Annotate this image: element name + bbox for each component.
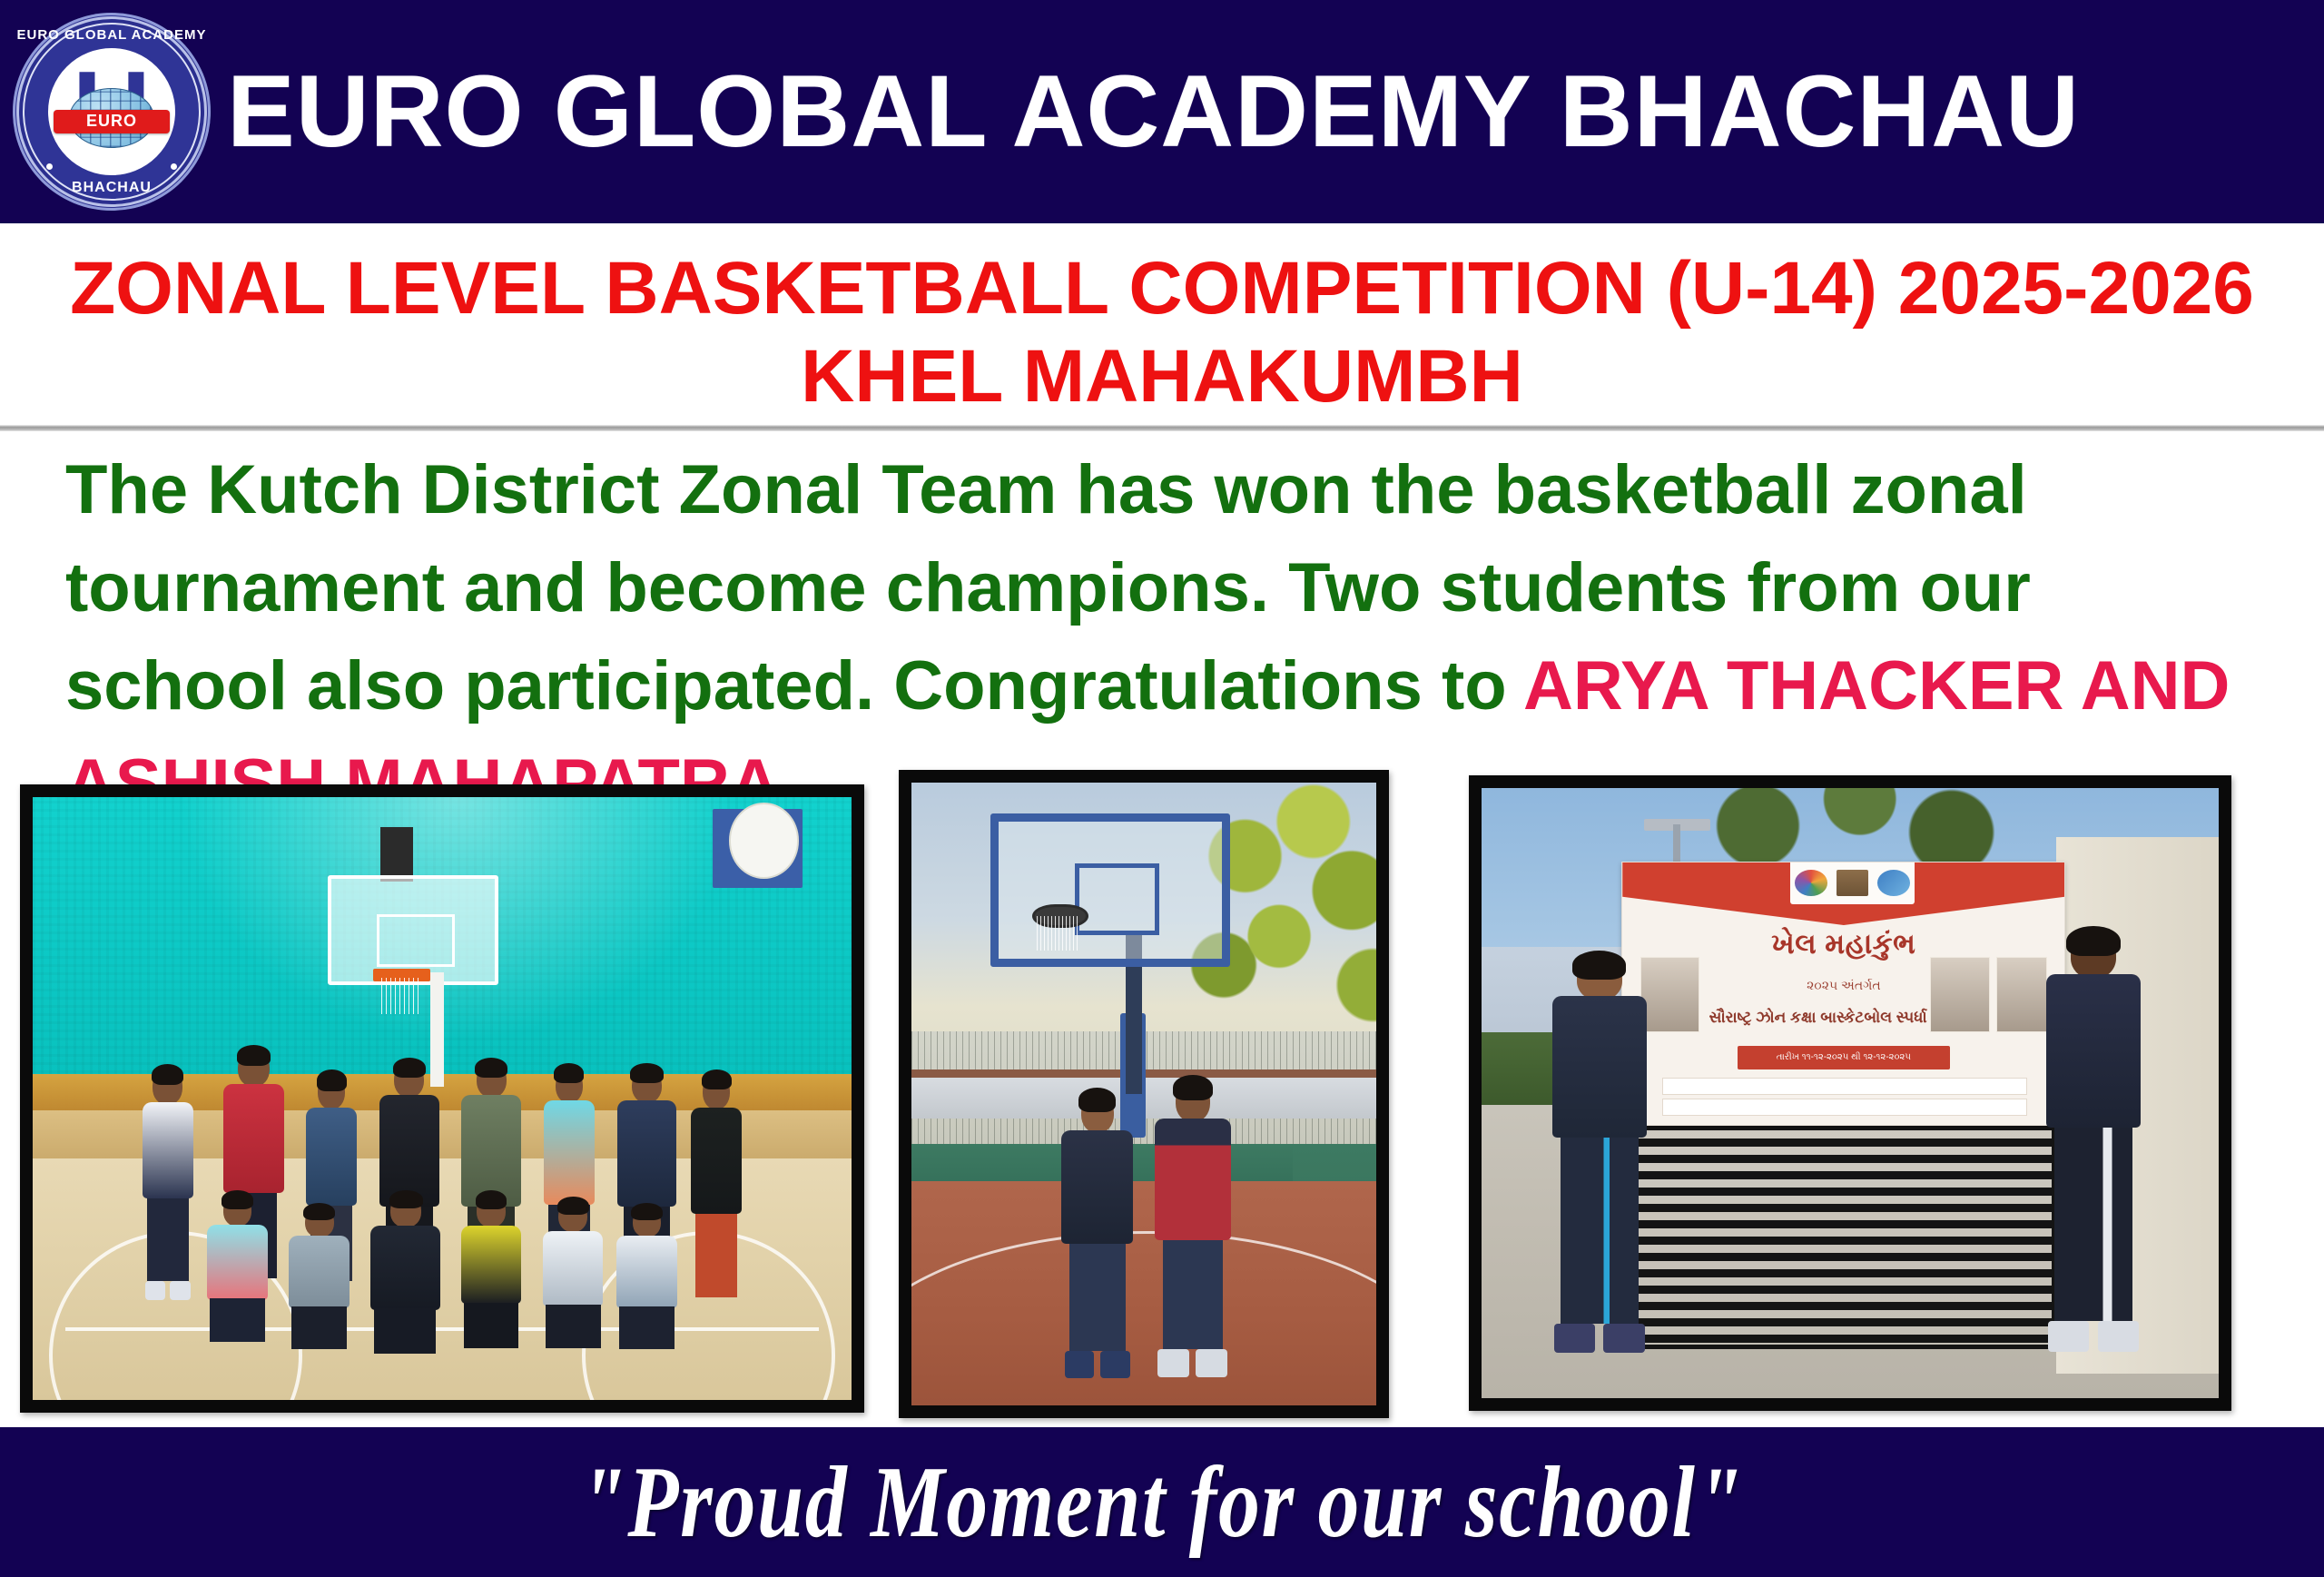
photo-indoor-gym-team	[20, 784, 864, 1413]
competition-title-block: ZONAL LEVEL BASKETBALL COMPETITION (U-14…	[0, 223, 2324, 425]
photo-gallery: ખેલ મહાકુંભ ૨૦૨૫ અંતર્ગત સૌરાષ્ટ્ર ઝોન ક…	[0, 763, 2324, 1425]
competition-title-line1: ZONAL LEVEL BASKETBALL COMPETITION (U-14…	[0, 249, 2324, 330]
person-figure	[688, 1074, 745, 1327]
sports-logo-icon	[1877, 870, 1909, 896]
person-figure	[614, 1207, 679, 1358]
school-logo: EURO GLOBAL ACADEMY BHACHAU U EURO	[13, 13, 211, 211]
school-name-title: EURO GLOBAL ACADEMY BHACHAU	[227, 61, 2324, 163]
gym-wall-banner-icon	[713, 809, 803, 887]
event-banner: ખેલ મહાકુંભ ૨૦૨૫ અંતર્ગત સૌરાષ્ટ્ર ઝોન ક…	[1621, 862, 2065, 1126]
photo-1-image	[33, 797, 852, 1400]
person-figure	[287, 1207, 352, 1358]
portrait-photo	[1930, 957, 1989, 1032]
competition-title-line2: KHEL MAHAKUMBH	[0, 337, 2324, 418]
logo-dot-right-icon	[171, 163, 177, 170]
photo-3-image: ખેલ મહાકુંભ ૨૦૨૫ અંતર્ગત સૌરાષ્ટ્ર ઝોન ક…	[1482, 788, 2219, 1398]
person-figure	[458, 1195, 524, 1357]
announcement-block: The Kutch District Zonal Team has won th…	[0, 441, 2324, 750]
person-figure	[1153, 1081, 1232, 1393]
header-banner: EURO GLOBAL ACADEMY BHACHAU U EURO EURO …	[0, 0, 2324, 223]
metal-stand	[1629, 1118, 2056, 1349]
banner-field	[1662, 1078, 2026, 1095]
banner-date-strip: તારીખ ૧૧-૧૨-૨૦૨૫ થી ૧૨-૧૨-૨૦૨૫	[1738, 1046, 1950, 1069]
emblem-icon	[1837, 870, 1868, 896]
logo-arc-top-text: EURO GLOBAL ACADEMY	[13, 27, 211, 43]
logo-arc-bottom-text: BHACHAU	[13, 180, 211, 196]
person-figure	[540, 1201, 606, 1358]
footer-banner: "Proud Moment for our school"	[0, 1427, 2324, 1577]
banner-field	[1662, 1099, 2026, 1116]
person-figure	[204, 1195, 270, 1352]
person-figure	[139, 1069, 196, 1310]
photo-banner-students: ખેલ મહાકુંભ ૨૦૨૫ અંતર્ગત સૌરાષ્ટ્ર ઝોન ક…	[1469, 775, 2231, 1411]
logo-dot-left-icon	[46, 163, 53, 170]
poster-root: EURO GLOBAL ACADEMY BHACHAU U EURO EURO …	[0, 0, 2324, 1577]
portrait-photo	[1996, 957, 2047, 1032]
govt-logo-icon	[1795, 870, 1827, 896]
person-figure	[369, 1195, 442, 1364]
basketball-backboard-icon	[990, 813, 1230, 967]
person-figure	[1060, 1094, 1135, 1393]
logo-euro-band: EURO	[54, 110, 170, 133]
person-figure	[2042, 934, 2145, 1374]
horizontal-divider	[0, 425, 2324, 431]
photo-outdoor-court-students	[899, 770, 1389, 1418]
person-figure	[1548, 959, 1651, 1374]
banner-logos	[1790, 862, 1914, 904]
footer-quote: "Proud Moment for our school"	[580, 1452, 1744, 1553]
photo-2-image	[911, 783, 1376, 1405]
